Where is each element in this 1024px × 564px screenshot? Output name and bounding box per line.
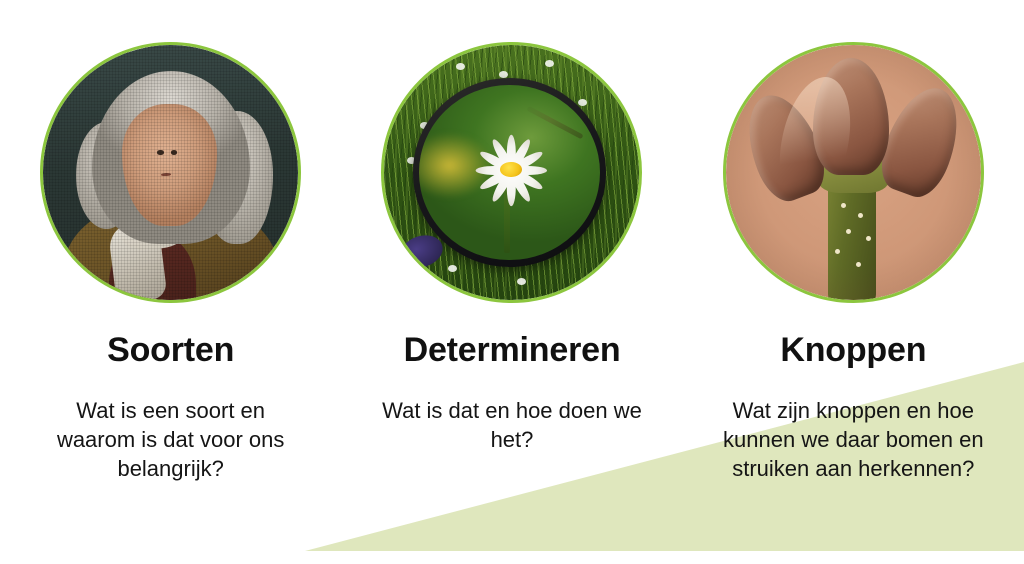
column-determineren: Determineren Wat is dat en hoe doen we h… [341,0,682,564]
portrait-engraving-texture [43,45,298,300]
column-soorten: Soorten Wat is een soort en waarom is da… [0,0,341,564]
heading-row-soorten: Soorten [107,303,234,369]
heading-soorten: Soorten [107,332,234,369]
image-linnaeus-portrait [40,42,301,303]
body-determineren: Wat is dat en hoe doen we het? [367,396,657,454]
magnifier-lens [419,85,600,261]
heading-knoppen: Knoppen [780,332,926,369]
meadow-daisy-speck [499,71,508,78]
meadow-daisy-speck [517,278,526,285]
grass-blade [526,106,583,140]
body-soorten: Wat is een soort en waarom is dat voor o… [26,396,316,483]
body-knoppen: Wat zijn knoppen en hoe kunnen we daar b… [705,396,1001,483]
heading-determineren: Determineren [404,332,621,369]
heading-row-determineren: Determineren [404,303,621,369]
meadow-artwork [384,45,639,300]
daisy-flower [470,143,553,203]
image-tree-buds [723,42,984,303]
bud-vignette [726,45,981,300]
meadow-daisy-speck [578,99,587,106]
bud-artwork [726,45,981,300]
magnifier-rim [413,78,607,267]
daisy-center [500,162,522,178]
column-knoppen: Knoppen Wat zijn knoppen en hoe kunnen w… [683,0,1024,564]
portrait-artwork [43,45,298,300]
meadow-daisy-speck [456,63,465,70]
columns-container: Soorten Wat is een soort en waarom is da… [0,0,1024,564]
image-magnifying-glass-daisy [381,42,642,303]
slide: Soorten Wat is een soort en waarom is da… [0,0,1024,564]
heading-row-knoppen: Knoppen [780,303,926,369]
